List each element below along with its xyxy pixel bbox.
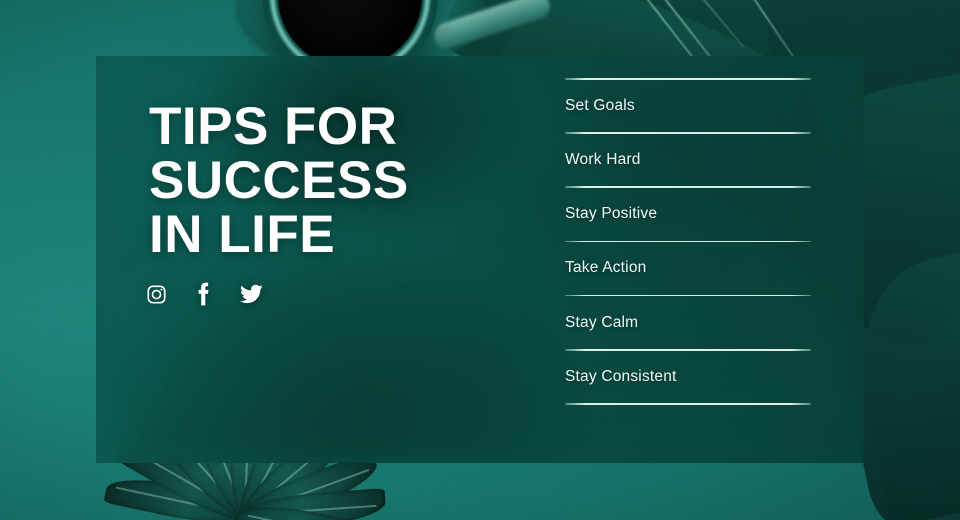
tip-label: Stay Consistent xyxy=(565,368,677,386)
tip-label: Take Action xyxy=(565,259,646,277)
social-links xyxy=(146,282,263,311)
list-item[interactable]: Take Action xyxy=(565,242,811,295)
facebook-icon[interactable] xyxy=(196,282,211,311)
list-divider xyxy=(565,403,811,405)
content-panel: TIPS FOR SUCCESS IN LIFE xyxy=(96,56,864,463)
list-item[interactable]: Stay Calm xyxy=(565,296,811,349)
title-line-3: IN LIFE xyxy=(149,208,529,262)
title-block: TIPS FOR SUCCESS IN LIFE xyxy=(149,100,529,262)
tip-label: Stay Positive xyxy=(565,205,657,223)
instagram-icon[interactable] xyxy=(146,284,167,310)
tips-list: Set Goals Work Hard Stay Positive Take A… xyxy=(565,78,811,405)
title-line-2: SUCCESS xyxy=(149,154,529,208)
twitter-icon[interactable] xyxy=(240,284,263,309)
poster-canvas: TIPS FOR SUCCESS IN LIFE xyxy=(0,0,960,520)
list-item[interactable]: Work Hard xyxy=(565,134,811,187)
list-item[interactable]: Stay Positive xyxy=(565,188,811,241)
title-line-1: TIPS FOR xyxy=(149,100,529,154)
list-item[interactable]: Set Goals xyxy=(565,80,811,133)
tip-label: Work Hard xyxy=(565,151,641,169)
page-title: TIPS FOR SUCCESS IN LIFE xyxy=(149,100,529,262)
list-item[interactable]: Stay Consistent xyxy=(565,351,811,404)
panel-content: TIPS FOR SUCCESS IN LIFE xyxy=(96,56,864,463)
tip-label: Stay Calm xyxy=(565,314,638,332)
tip-label: Set Goals xyxy=(565,97,635,115)
